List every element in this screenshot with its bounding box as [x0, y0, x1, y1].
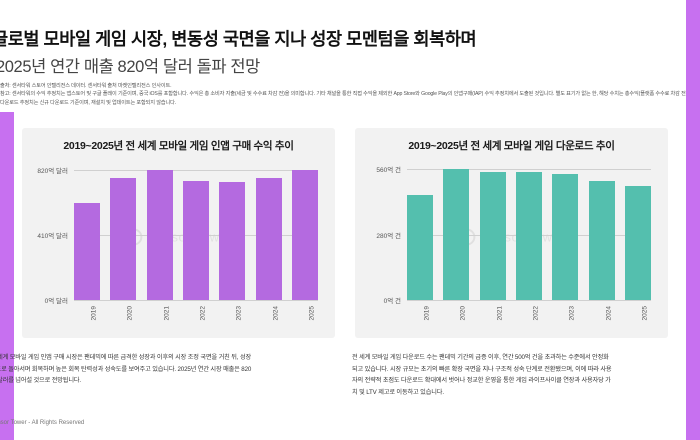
x-axis-tick-label: 2024 — [272, 306, 279, 320]
chart-card-revenue: 2019~2025년 전 세계 모바일 게임 인앱 구매 수익 추이 Senso… — [22, 128, 335, 338]
x-axis-tick: 2023 — [219, 306, 245, 334]
bar-2021[interactable] — [480, 172, 506, 300]
chart-title-downloads: 2019~2025년 전 세계 모바일 게임 다운로드 추이 — [355, 138, 668, 153]
x-axis-tick: 2025 — [292, 306, 318, 334]
x-axis-tick: 2023 — [552, 306, 578, 334]
body-left-line-3: 억 달러를 넘어설 것으로 전망됩니다. — [0, 375, 335, 387]
y-axis-tick-label: 0억 달러 — [45, 295, 68, 305]
plot-area-downloads: 0억 건280억 건560억 건 — [407, 160, 651, 300]
y-axis-gridline: 0억 달러 — [74, 300, 318, 301]
x-axis-tick-label: 2022 — [199, 306, 206, 320]
x-axis-tick-label: 2023 — [236, 306, 243, 320]
x-axis-tick: 2025 — [625, 306, 651, 334]
x-axis-tick-label: 2020 — [460, 306, 467, 320]
x-axis-tick: 2021 — [147, 306, 173, 334]
accent-bar-left — [0, 112, 14, 440]
x-axis-tick-label: 2019 — [424, 306, 431, 320]
accent-bar-right — [686, 0, 700, 440]
bar-slot — [219, 160, 245, 300]
bar-2019[interactable] — [407, 195, 433, 300]
chart-card-downloads: 2019~2025년 전 세계 모바일 게임 다운로드 추이 Sensor To… — [355, 128, 668, 338]
x-axis-tick: 2019 — [407, 306, 433, 334]
x-axis-tick-label: 2019 — [91, 306, 98, 320]
slide: 글로벌 모바일 게임 시장, 변동성 국면을 지나 성장 모멘텀을 회복하며 2… — [0, 0, 700, 440]
footnote-line-1: 출처: 센서타워 스토어 인텔리전스 데이터. 센서타워 출처 마켓인텔리전스 … — [0, 82, 700, 90]
bar-series — [74, 160, 318, 300]
bar-slot — [589, 160, 615, 300]
body-right-line-2: 되고 있습니다. 시장 규모는 초기의 빠른 확장 국면을 지나 구조적 성숙 … — [352, 364, 682, 376]
x-axis-tick-label: 2024 — [605, 306, 612, 320]
bar-2023[interactable] — [219, 182, 245, 300]
body-right-line-1: 전 세계 모바일 게임 다운로드 수는 팬데믹 기간의 급증 이후, 연간 50… — [352, 352, 682, 364]
page-title: 글로벌 모바일 게임 시장, 변동성 국면을 지나 성장 모멘텀을 회복하며 — [0, 26, 682, 51]
bar-slot — [256, 160, 282, 300]
x-axis-labels-revenue: 2019202020212022202320242025 — [74, 306, 318, 334]
x-axis-tick: 2022 — [516, 306, 542, 334]
x-axis-tick: 2021 — [480, 306, 506, 334]
y-axis-tick-label: 280억 건 — [376, 230, 401, 240]
x-axis-tick: 2024 — [589, 306, 615, 334]
page-subtitle: 2025년 연간 매출 820억 달러 돌파 전망 — [0, 53, 686, 77]
chart-title-revenue: 2019~2025년 전 세계 모바일 게임 인앱 구매 수익 추이 — [22, 138, 335, 153]
bar-slot — [407, 160, 433, 300]
x-axis-tick-label: 2020 — [127, 306, 134, 320]
bar-2021[interactable] — [147, 170, 173, 300]
header-band: 글로벌 모바일 게임 시장, 변동성 국면을 지나 성장 모멘텀을 회복하며 2… — [0, 0, 700, 112]
y-axis-tick-label: 820억 달러 — [37, 165, 68, 175]
bar-slot — [147, 160, 173, 300]
bar-2025[interactable] — [292, 170, 318, 300]
bar-2020[interactable] — [110, 178, 136, 301]
x-axis-tick-label: 2025 — [641, 306, 648, 320]
body-left-line-1: 전 세계 모바일 게임 인앱 구매 시장은 팬데믹에 따른 급격한 성장과 이후… — [0, 352, 335, 364]
x-axis-tick: 2020 — [443, 306, 469, 334]
bar-slot — [110, 160, 136, 300]
bar-slot — [443, 160, 469, 300]
x-axis-tick-label: 2021 — [496, 306, 503, 320]
bar-series — [407, 160, 651, 300]
bar-slot — [516, 160, 542, 300]
y-axis-tick-label: 0억 건 — [384, 295, 401, 305]
x-axis-labels-downloads: 2019202020212022202320242025 — [407, 306, 651, 334]
bar-slot — [292, 160, 318, 300]
bar-2020[interactable] — [443, 169, 469, 300]
footnote-line-2: 참고: 센서타워의 수익 추정치는 앱스토어 및 구글 플레이 기준이며, 중국… — [0, 90, 700, 98]
bar-slot — [625, 160, 651, 300]
body-right-line-4: 치 및 LTV 제고로 이동하고 있습니다. — [352, 387, 682, 399]
footnote-block: 출처: 센서타워 스토어 인텔리전스 데이터. 센서타워 출처 마켓인텔리전스 … — [0, 82, 700, 107]
bar-2022[interactable] — [183, 181, 209, 300]
bar-2024[interactable] — [256, 178, 282, 301]
plot-area-revenue: 0억 달러410억 달러820억 달러 — [74, 160, 318, 300]
footnote-line-3: 다운로드 추정치는 신규 다운로드 기준이며, 재설치 및 업데이트는 포함되지… — [0, 99, 700, 107]
x-axis-tick-label: 2025 — [308, 306, 315, 320]
y-axis-tick-label: 410억 달러 — [37, 230, 68, 240]
bar-2019[interactable] — [74, 203, 100, 300]
bar-2025[interactable] — [625, 186, 651, 300]
bar-slot — [74, 160, 100, 300]
body-right-line-3: 자의 전략적 초점도 다운로드 확대에서 벗어나 정교한 운영을 통한 게임 라… — [352, 375, 682, 387]
bar-2024[interactable] — [589, 181, 615, 300]
bar-2022[interactable] — [516, 172, 542, 300]
y-axis-gridline: 0억 건 — [407, 300, 651, 301]
body-left-line-2: 궤도로 돌아서며 회복하며 높은 회복 탄력성과 성숙도를 보여주고 있습니다.… — [0, 364, 335, 376]
body-text-revenue: 전 세계 모바일 게임 인앱 구매 시장은 팬데믹에 따른 급격한 성장과 이후… — [0, 352, 335, 387]
x-axis-tick: 2019 — [74, 306, 100, 334]
x-axis-tick: 2020 — [110, 306, 136, 334]
bar-2023[interactable] — [552, 174, 578, 300]
body-text-downloads: 전 세계 모바일 게임 다운로드 수는 팬데믹 기간의 급증 이후, 연간 50… — [352, 352, 682, 398]
y-axis-tick-label: 560억 건 — [376, 164, 401, 174]
copyright-footer: Sensor Tower - All Rights Reserved — [0, 420, 84, 426]
bar-slot — [552, 160, 578, 300]
x-axis-tick: 2024 — [256, 306, 282, 334]
x-axis-tick-label: 2021 — [163, 306, 170, 320]
x-axis-tick-label: 2022 — [532, 306, 539, 320]
bar-slot — [480, 160, 506, 300]
x-axis-tick-label: 2023 — [569, 306, 576, 320]
bar-slot — [183, 160, 209, 300]
x-axis-tick: 2022 — [183, 306, 209, 334]
